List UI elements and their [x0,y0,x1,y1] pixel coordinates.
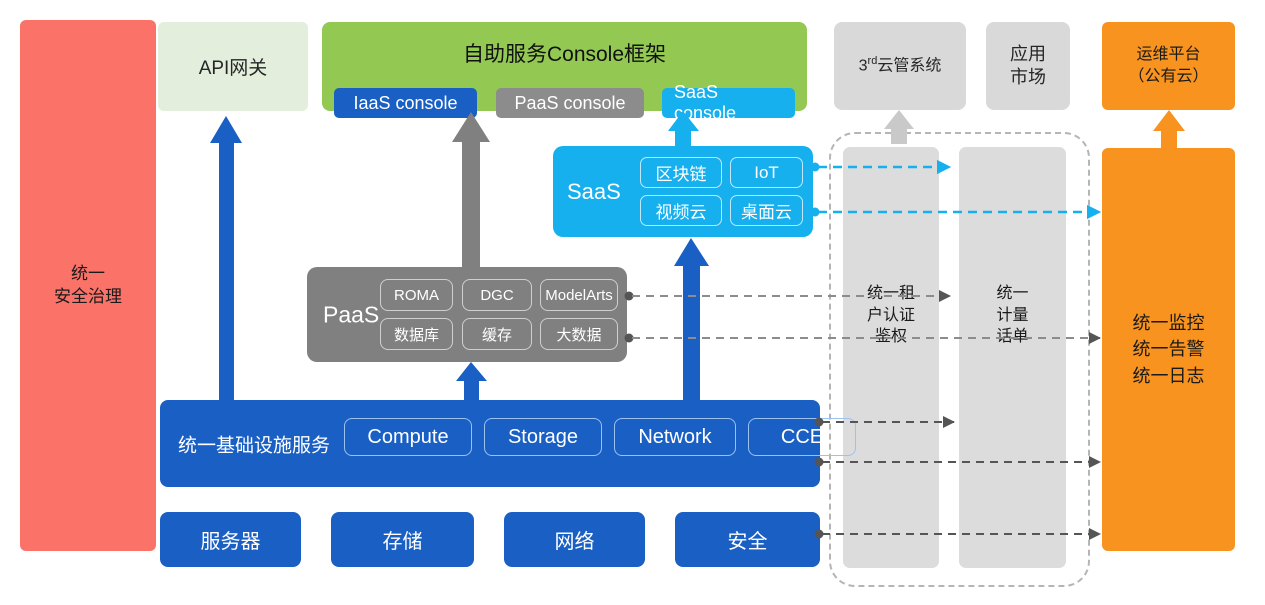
resource-box-security[interactable]: 安全 [675,512,820,567]
infra-pill-compute-label: Compute [367,426,448,449]
paas-pill-roma-label: ROMA [394,287,439,304]
paas-pill-roma[interactable]: ROMA [380,279,453,311]
infra-pill-storage-label: Storage [508,426,578,449]
paas-pill-cache-label: 缓存 [482,324,512,345]
infra-pill-storage[interactable]: Storage [484,418,602,456]
paas-block: PaaS ROMA DGC ModelArts 数据库 缓存 大数据 [307,267,627,362]
arrow-infra-to-api-gateway [210,116,242,400]
ops-platform-public-cloud-box[interactable]: 运维平台 （公有云） [1102,22,1235,110]
saas-pill-video-cloud[interactable]: 视频云 [640,195,722,226]
resource-box-storage[interactable]: 存储 [331,512,474,567]
resource-box-server-label: 服务器 [201,525,261,554]
saas-console-chip[interactable]: SaaS console [662,88,795,118]
security-governance-label: 统一 安全治理 [54,263,122,309]
saas-pill-iot[interactable]: IoT [730,157,803,188]
console-framework-title: 自助服务Console框架 [322,38,807,68]
saas-label: SaaS [567,179,621,205]
ops-monitoring-column: 统一监控 统一告警 统一日志 [1102,148,1235,551]
infra-pill-cce[interactable]: CCE [748,418,856,456]
resource-box-network-label: 网络 [555,525,595,554]
infrastructure-bar: 统一基础设施服务 Compute Storage Network CCE [160,400,820,487]
paas-label: PaaS [323,301,379,328]
infra-pill-cce-label: CCE [781,426,823,449]
ops-monitoring-label: 统一监控 统一告警 统一日志 [1133,310,1205,388]
iaas-console-chip[interactable]: IaaS console [334,88,477,118]
infra-pill-network-label: Network [638,426,711,449]
unified-tenant-auth-strip[interactable] [843,147,939,568]
saas-pill-blockchain-label: 区块链 [656,160,707,185]
api-gateway-box[interactable]: API网关 [158,22,308,111]
paas-pill-modelarts[interactable]: ModelArts [540,279,618,311]
paas-pill-database[interactable]: 数据库 [380,318,453,350]
paas-pill-dgc-label: DGC [480,287,513,304]
paas-pill-cache[interactable]: 缓存 [462,318,532,350]
resource-box-server[interactable]: 服务器 [160,512,301,567]
unified-tenant-auth-label: 统一租 户认证 鉴权 [843,283,939,348]
paas-console-chip[interactable]: PaaS console [496,88,644,118]
infrastructure-label: 统一基础设施服务 [178,430,330,457]
security-governance-column: 统一 安全治理 [20,20,156,551]
paas-pill-bigdata-label: 大数据 [556,324,601,345]
paas-pill-bigdata[interactable]: 大数据 [540,318,618,350]
architecture-diagram: 统一 安全治理 API网关 自助服务Console框架 IaaS console… [0,0,1265,605]
saas-pill-blockchain[interactable]: 区块链 [640,157,722,188]
saas-pill-desktop-cloud[interactable]: 桌面云 [730,195,803,226]
paas-console-label: PaaS console [514,93,625,114]
saas-pill-iot-label: IoT [754,163,779,183]
resource-box-storage-label: 存储 [383,525,423,554]
ops-platform-public-cloud-label: 运维平台 （公有云） [1128,44,1208,87]
api-gateway-label: API网关 [199,53,268,80]
third-party-cloud-label: 3rd云管系统 [859,54,942,77]
resource-box-network[interactable]: 网络 [504,512,645,567]
app-market-box[interactable]: 应用 市场 [986,22,1070,110]
arrow-infra-to-saas [674,238,709,400]
paas-pill-modelarts-label: ModelArts [545,287,613,304]
infra-pill-network[interactable]: Network [614,418,736,456]
resource-box-security-label: 安全 [728,525,768,554]
saas-console-label: SaaS console [674,82,783,124]
arrow-infra-to-paas [456,362,487,400]
paas-pill-dgc[interactable]: DGC [462,279,532,311]
infra-pill-compute[interactable]: Compute [344,418,472,456]
arrow-paas-to-console [452,112,490,267]
third-party-cloud-box[interactable]: 3rd云管系统 [834,22,966,110]
saas-pill-video-cloud-label: 视频云 [656,198,707,223]
unified-billing-strip[interactable] [959,147,1066,568]
console-framework-box: 自助服务Console框架 IaaS console PaaS console … [322,22,807,111]
paas-pill-database-label: 数据库 [394,324,439,345]
app-market-label: 应用 市场 [1010,43,1046,90]
saas-block: SaaS 区块链 IoT 视频云 桌面云 [553,146,813,237]
saas-pill-desktop-cloud-label: 桌面云 [741,198,792,223]
iaas-console-label: IaaS console [353,93,457,114]
arrow-ops-column-to-ops-platform [1153,110,1185,150]
unified-billing-label: 统一 计量 话单 [959,283,1066,348]
